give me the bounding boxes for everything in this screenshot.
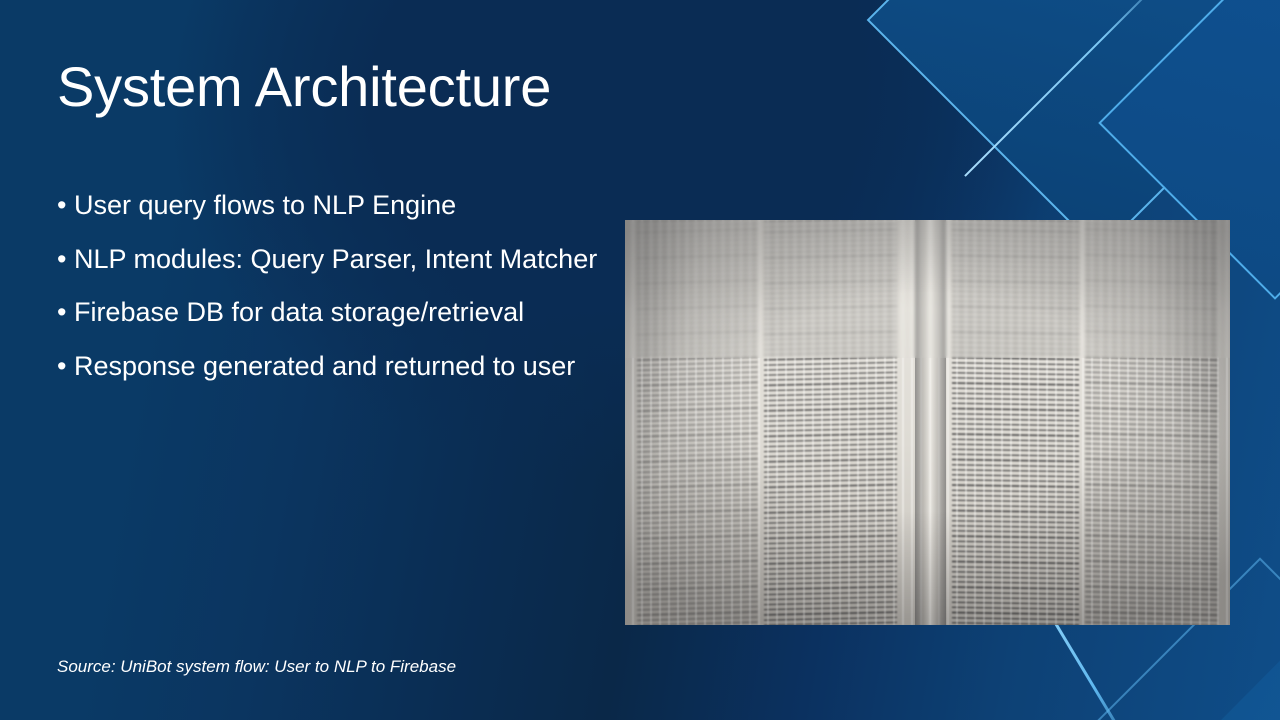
- presentation-slide: System Architecture • User query flows t…: [0, 0, 1280, 720]
- bullet-item: • NLP modules: Query Parser, Intent Matc…: [57, 240, 602, 279]
- bullet-item: • Firebase DB for data storage/retrieval: [57, 293, 602, 332]
- bullet-item: • Response generated and returned to use…: [57, 347, 602, 386]
- bullet-list: • User query flows to NLP Engine • NLP m…: [57, 186, 602, 385]
- open-dictionary-book-photo: [625, 220, 1230, 625]
- source-caption: Source: UniBot system flow: User to NLP …: [57, 657, 456, 677]
- accent-edge-line-top: [964, 0, 1178, 177]
- photo-vignette: [625, 220, 1230, 625]
- bullet-item: • User query flows to NLP Engine: [57, 186, 602, 225]
- filled-diamond-shape: [867, 0, 1280, 253]
- slide-title: System Architecture: [57, 56, 777, 119]
